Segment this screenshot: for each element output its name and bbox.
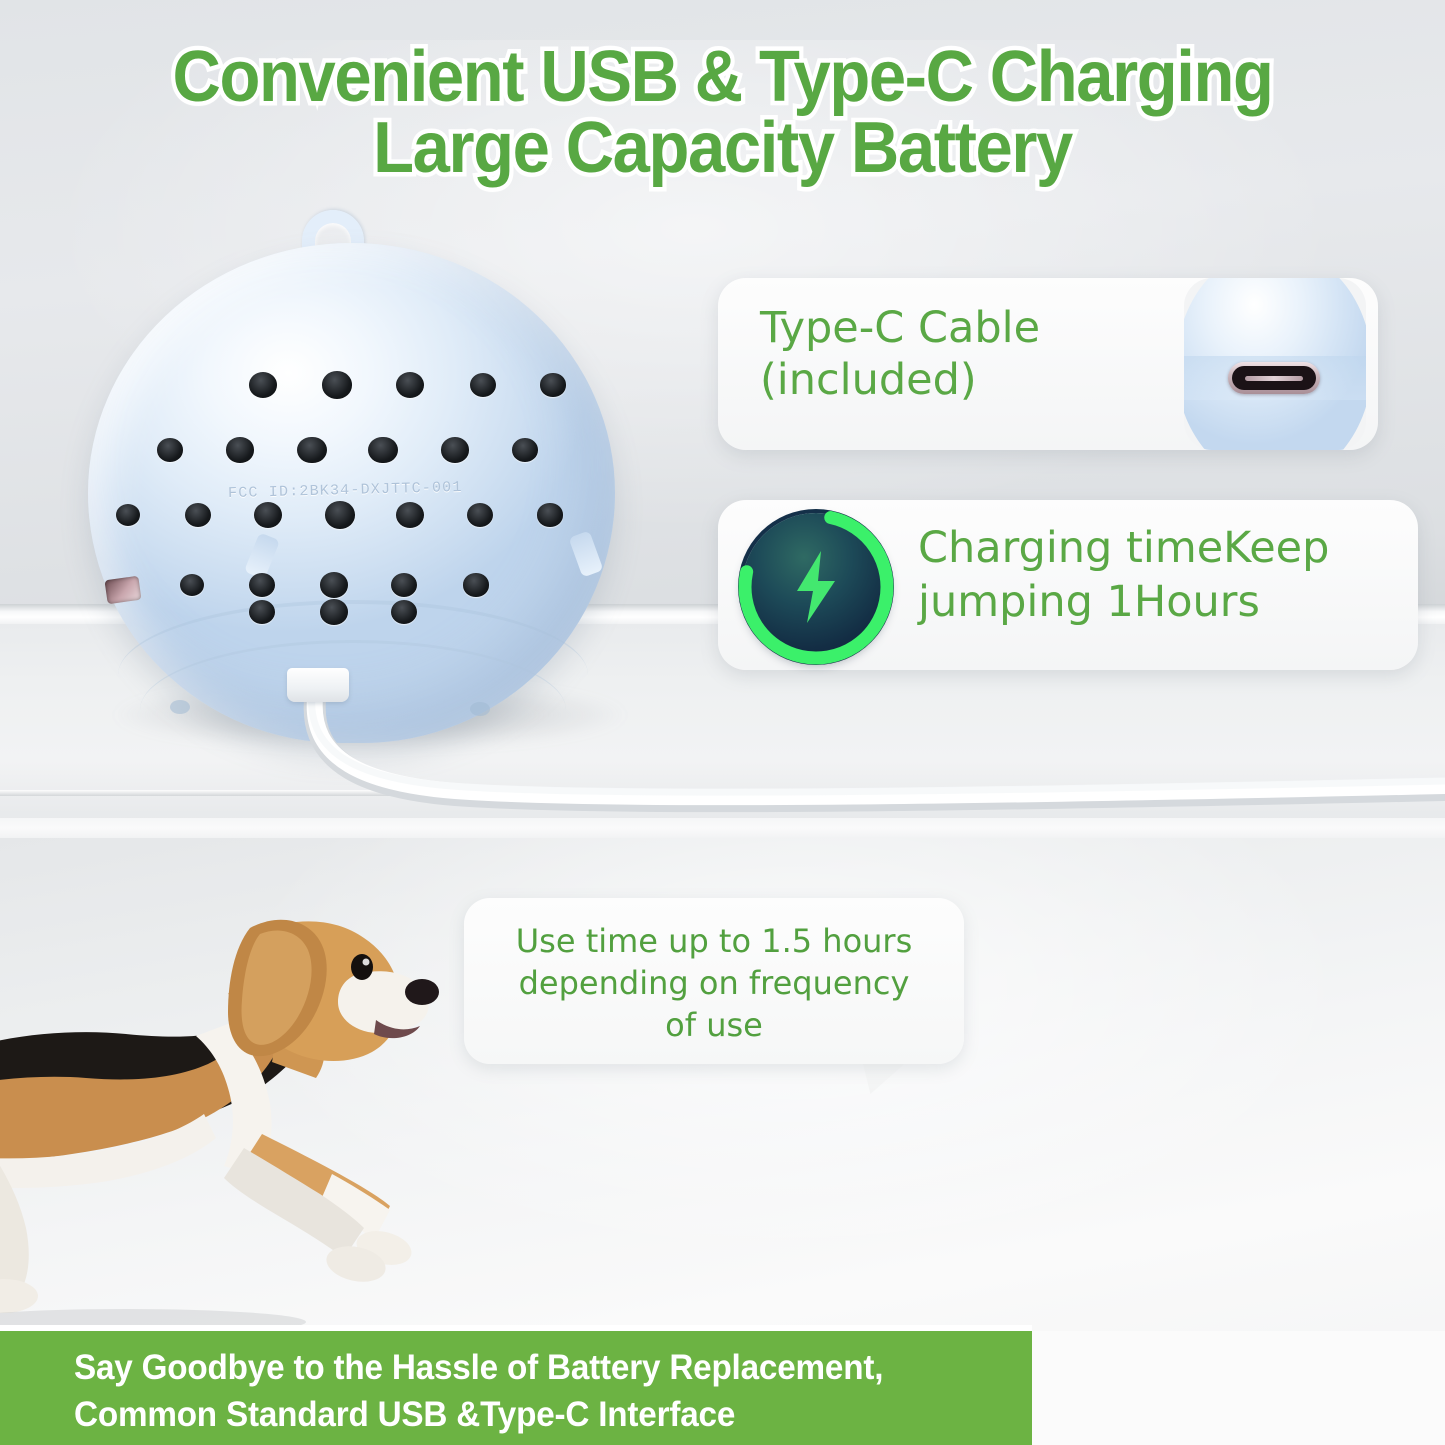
usb-c-port-photo <box>1184 278 1366 450</box>
banner-line-1: Say Goodbye to the Hassle of Battery Rep… <box>74 1345 967 1392</box>
callout-charging-line1: Charging timeKeep <box>918 522 1398 576</box>
vent-hole <box>512 438 538 462</box>
banner-right-gap <box>1032 1331 1445 1445</box>
callout-use-time-text: Use time up to 1.5 hours depending on fr… <box>464 898 964 1047</box>
ball-side-slot <box>104 576 141 604</box>
usb-c-port-icon <box>1228 362 1320 394</box>
page-title: Convenient USB & Type-C Charging Large C… <box>0 42 1445 183</box>
vent-hole <box>540 373 565 396</box>
ball-seam-line-2 <box>140 640 566 780</box>
callout-type-c-line2: (included) <box>760 354 1170 406</box>
cable-plug <box>287 668 349 702</box>
vent-hole <box>185 503 211 527</box>
callout-type-c-line1: Type-C Cable <box>760 302 1170 354</box>
vent-hole <box>368 437 397 464</box>
vent-hole <box>320 572 348 597</box>
infographic-root: FCC ID:2BK34-DXJTTC-001 Convenient USB &… <box>0 0 1445 1445</box>
ball-notch-right <box>568 531 603 578</box>
bottom-banner: Say Goodbye to the Hassle of Battery Rep… <box>0 1331 1032 1445</box>
usb-c-port-tongue <box>1245 376 1304 381</box>
table-front-line <box>0 790 1445 796</box>
callout-use-time-line1: Use time up to 1.5 hours <box>490 920 938 962</box>
vent-hole <box>226 437 253 462</box>
callout-type-c-cable: Type-C Cable (included) <box>718 278 1378 450</box>
ball-foot-left <box>170 700 190 714</box>
charging-bolt-icon <box>742 513 890 661</box>
vent-hole <box>297 437 326 464</box>
title-line-2: Large Capacity Battery <box>51 113 1395 184</box>
callout-type-c-text: Type-C Cable (included) <box>760 302 1170 407</box>
callout-use-time-line2: depending on frequency <box>490 962 938 1004</box>
ball-foot-right <box>470 702 490 716</box>
vent-hole <box>249 573 275 597</box>
vent-hole <box>441 437 468 462</box>
vent-hole <box>320 599 348 624</box>
callout-use-time: Use time up to 1.5 hours depending on fr… <box>464 898 964 1064</box>
panel-divider <box>0 818 1445 838</box>
vent-hole <box>325 501 355 528</box>
vent-hole <box>157 438 183 462</box>
beagle-dog-photo <box>0 856 476 1336</box>
vent-hole <box>249 372 277 398</box>
callout-charging-text: Charging timeKeep jumping 1Hours <box>918 522 1398 630</box>
vent-hole <box>322 371 352 398</box>
vent-hole <box>249 600 275 624</box>
banner-line-2: Common Standard USB &Type-C Interface <box>74 1392 967 1439</box>
banner-text: Say Goodbye to the Hassle of Battery Rep… <box>74 1345 967 1438</box>
vent-hole <box>463 573 488 596</box>
lightning-bolt-icon <box>787 549 845 625</box>
callout-charging-time: Charging timeKeep jumping 1Hours <box>718 500 1418 670</box>
title-line-1: Convenient USB & Type-C Charging <box>51 42 1395 113</box>
vent-hole <box>254 502 282 528</box>
vent-hole <box>537 503 562 526</box>
usb-c-port-cavity <box>1232 366 1316 390</box>
callout-charging-line2: jumping 1Hours <box>918 576 1398 630</box>
banner-top-rule <box>0 1325 1032 1331</box>
top-panel: FCC ID:2BK34-DXJTTC-001 Convenient USB &… <box>0 0 1445 818</box>
callout-use-time-line3: of use <box>490 1004 938 1046</box>
